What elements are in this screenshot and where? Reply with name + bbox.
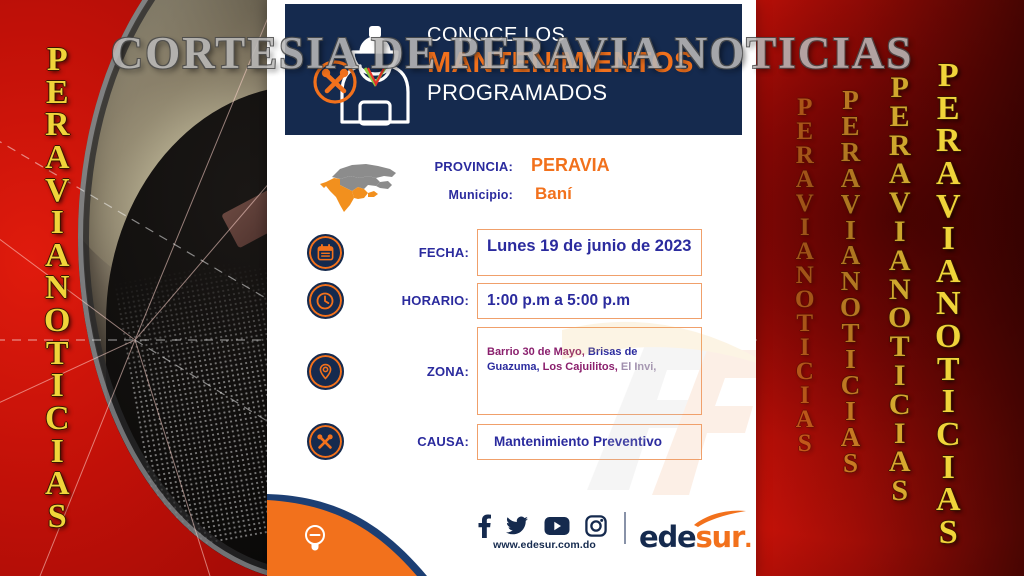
edesur-logo-sur: sur	[696, 520, 745, 554]
zona-part-3: Los Cajuilitos,	[543, 361, 618, 373]
banner-line-3: PROGRAMADOS	[427, 80, 694, 105]
province-row: PROVINCIA: PERAVIA	[405, 155, 735, 176]
provincia-label: PROVINCIA:	[405, 159, 513, 174]
fecha-icon-cell	[285, 234, 365, 271]
tools-icon-badge	[307, 423, 344, 460]
background-right-vignette	[724, 0, 1024, 576]
flyer-footer: www.edesur.com.do edesur.	[267, 488, 756, 576]
location-pin-icon	[316, 362, 335, 381]
twitter-icon[interactable]	[506, 514, 528, 538]
footer-swoosh-graphic	[267, 488, 467, 576]
horario-label: HORARIO:	[365, 293, 477, 308]
clock-icon	[315, 291, 335, 311]
horario-icon-cell	[285, 282, 365, 319]
row-fecha: FECHA: Lunes 19 de junio de 2023	[285, 229, 742, 276]
clock-icon-badge	[307, 282, 344, 319]
causa-value: Mantenimiento Preventivo	[477, 424, 702, 460]
light-bulb-icon	[303, 524, 327, 554]
flyer-banner: CONOCE LOS MANTENIMIENTOS PROGRAMADOS	[285, 4, 742, 135]
flyer-card: CONOCE LOS MANTENIMIENTOS PROGRAMADOS	[267, 0, 756, 576]
flyer-card-inner: CONOCE LOS MANTENIMIENTOS PROGRAMADOS	[285, 4, 742, 572]
banner-line-1: CONOCE LOS	[427, 24, 694, 47]
banner-line-2: MANTENIMIENTOS	[427, 48, 694, 79]
causa-label: CAUSA:	[365, 434, 477, 449]
screenshot-root: 2802903003103203303403502.0 PERAVIANOTIC…	[0, 0, 1024, 576]
province-rows: PROVINCIA: PERAVIA Municipio: Baní	[405, 155, 735, 212]
zona-part-1: Barrio 30 de Mayo,	[487, 346, 585, 358]
banner-text-block: CONOCE LOS MANTENIMIENTOS PROGRAMADOS	[427, 24, 694, 106]
info-rows: FECHA: Lunes 19 de junio de 2023 HORARIO…	[285, 229, 742, 460]
footer-divider	[624, 512, 626, 544]
social-icons-row	[477, 514, 607, 538]
youtube-icon[interactable]	[544, 516, 570, 536]
row-zona: ZONA: Barrio 30 de Mayo, Brisas de Guazu…	[285, 327, 742, 415]
municipio-value: Baní	[513, 184, 572, 204]
calendar-icon	[316, 243, 335, 262]
edesur-logo-ede: ede	[639, 520, 696, 554]
horario-value: 1:00 p.m a 5:00 p.m	[477, 283, 702, 319]
causa-icon-cell	[285, 423, 365, 460]
municipio-row: Municipio: Baní	[405, 184, 735, 204]
edesur-logo-dot: .	[744, 528, 751, 553]
province-block: PROVINCIA: PERAVIA Municipio: Baní	[285, 147, 742, 227]
row-horario: HORARIO: 1:00 p.m a 5:00 p.m	[285, 282, 742, 319]
zona-part-4: El Invi,	[618, 361, 657, 373]
facebook-icon[interactable]	[477, 514, 491, 538]
worker-helmet-tools-icon	[313, 20, 423, 126]
edesur-logo-wordmark: edesur.	[639, 520, 751, 554]
fecha-value: Lunes 19 de junio de 2023	[477, 229, 702, 276]
zona-label: ZONA:	[365, 364, 477, 379]
row-causa: CAUSA: Mantenimiento Preventivo	[285, 423, 742, 460]
tools-icon	[315, 432, 335, 452]
website-url[interactable]: www.edesur.com.do	[472, 539, 617, 551]
provincia-value: PERAVIA	[513, 155, 610, 176]
location-pin-icon-badge	[307, 353, 344, 390]
zona-icon-cell	[285, 353, 365, 390]
fecha-label: FECHA:	[365, 245, 477, 260]
calendar-icon-badge	[307, 234, 344, 271]
zona-value: Barrio 30 de Mayo, Brisas de Guazuma, Lo…	[477, 327, 702, 415]
municipio-label: Municipio:	[405, 188, 513, 202]
instagram-icon[interactable]	[585, 515, 607, 537]
dominican-republic-map	[318, 155, 400, 217]
edesur-logo: edesur.	[639, 508, 749, 552]
